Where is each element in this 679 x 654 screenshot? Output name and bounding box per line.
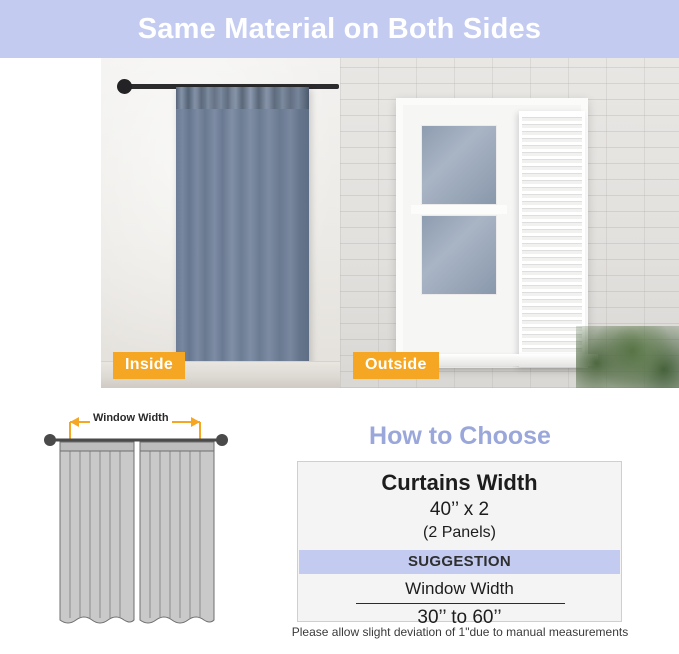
product-infographic: Same Material on Both Sides	[0, 0, 679, 654]
curtain-panel-inside	[176, 87, 309, 376]
shrub-foliage	[576, 326, 679, 388]
how-to-choose-title: How to Choose	[260, 422, 660, 451]
curtain-pleats	[176, 87, 309, 109]
measurement-footnote: Please allow slight deviation of 1"due t…	[260, 625, 660, 639]
box-divider	[356, 603, 565, 604]
diagram-panel-left	[60, 442, 134, 623]
width-arrow-right-head	[191, 417, 200, 427]
curtains-width-heading: Curtains Width	[298, 470, 621, 496]
outside-label-badge: Outside	[353, 352, 439, 379]
curtain-width-diagram: Window Width	[30, 412, 242, 642]
window-width-measure-label: Window Width	[90, 412, 172, 424]
curtain-diagram-svg	[30, 412, 242, 642]
size-guide-box: Curtains Width 40’’ x 2 (2 Panels) SUGGE…	[297, 461, 622, 622]
window-mid-rail	[411, 205, 507, 214]
diagram-pocket-right	[140, 442, 214, 451]
how-to-choose-panel: How to Choose Curtains Width 40’’ x 2 (2…	[260, 412, 660, 642]
diagram-pocket-left	[60, 442, 134, 451]
rod-finial-icon	[117, 79, 132, 94]
diagram-finial-right-icon	[216, 434, 228, 446]
diagram-fold-lines	[70, 446, 200, 618]
window-pane-bottom-left	[421, 215, 497, 295]
outside-photo	[340, 58, 679, 388]
inside-photo	[101, 58, 340, 388]
diagram-finial-left-icon	[44, 434, 56, 446]
window-width-label: Window Width	[298, 579, 621, 599]
width-arrow-left-head	[70, 417, 79, 427]
photo-comparison-panel: Inside Outside	[101, 58, 679, 388]
diagram-panel-right	[140, 442, 214, 623]
curtains-width-value: 40’’ x 2	[298, 499, 621, 521]
inside-label-badge: Inside	[113, 352, 185, 379]
window-pane-top-left	[421, 125, 497, 205]
window-frame	[396, 98, 588, 368]
header-banner: Same Material on Both Sides	[0, 0, 679, 58]
page-title: Same Material on Both Sides	[138, 13, 541, 46]
suggestion-band: SUGGESTION	[299, 550, 620, 574]
panel-count-value: (2 Panels)	[298, 524, 621, 542]
